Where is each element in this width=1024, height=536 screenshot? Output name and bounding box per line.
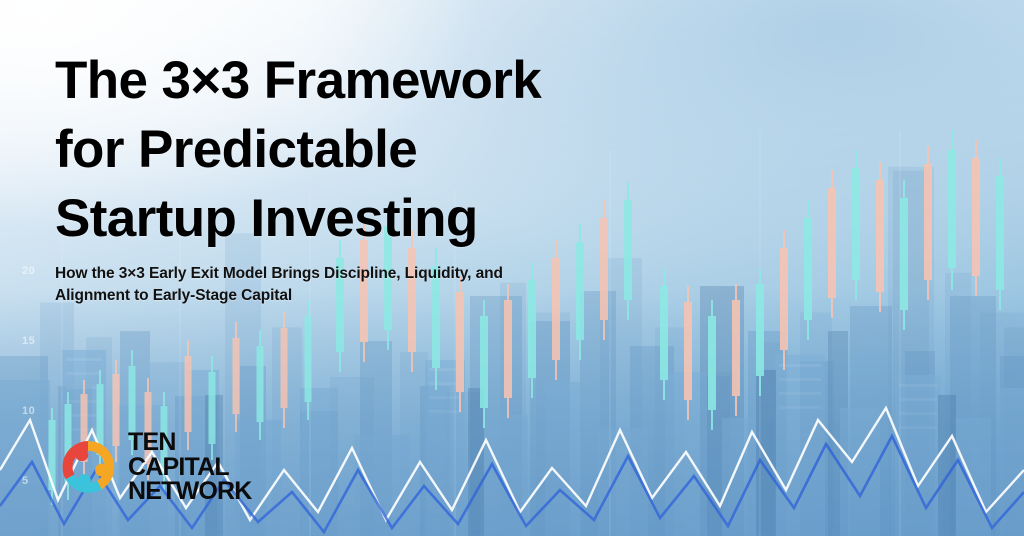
headline-line-3: Startup Investing <box>55 185 675 254</box>
ten-capital-network-logo[interactable]: TEN CAPITAL NETWORK <box>57 430 252 503</box>
headline-line-1: The 3×3 Framework <box>55 47 675 116</box>
subhead-line-2: Alignment to Early-Stage Capital <box>55 285 600 308</box>
logo-word-network: NETWORK <box>128 479 252 503</box>
subhead-line-1: How the 3×3 Early Exit Model Brings Disc… <box>55 263 600 286</box>
logo-wordmark: TEN CAPITAL NETWORK <box>128 430 252 503</box>
page-subtitle: How the 3×3 Early Exit Model Brings Disc… <box>55 263 600 308</box>
logo-circle-people-icon <box>57 436 119 498</box>
axis-tick-10: 10 <box>22 405 35 417</box>
axis-tick-20: 20 <box>22 265 35 277</box>
axis-tick-15: 15 <box>22 335 35 347</box>
axis-tick-5: 5 <box>22 475 29 487</box>
headline-line-2: for Predictable <box>55 116 675 185</box>
logo-word-capital: CAPITAL <box>128 455 252 479</box>
logo-word-ten: TEN <box>128 430 252 454</box>
marketing-banner: 20 15 10 5 The 3×3 Framework for Predict… <box>0 0 1024 536</box>
banner-text-block: The 3×3 Framework for Predictable Startu… <box>55 47 675 308</box>
page-title: The 3×3 Framework for Predictable Startu… <box>55 47 675 254</box>
